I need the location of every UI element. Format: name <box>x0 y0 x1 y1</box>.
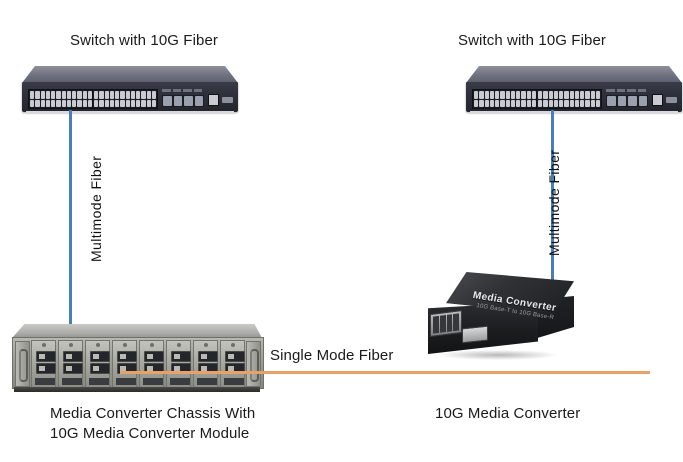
single-mode-fiber-label: Single Mode Fiber <box>266 346 397 365</box>
rj45-port-bank-2 <box>536 89 602 109</box>
right-switch-title: Switch with 10G Fiber <box>458 31 606 50</box>
left-switch-device <box>22 66 238 114</box>
converter-module-slot <box>166 340 191 388</box>
converter-module-slot <box>193 340 218 388</box>
left-switch-title: Switch with 10G Fiber <box>70 31 218 50</box>
single-mode-fiber-link <box>120 371 650 374</box>
chassis-caption-line-2: 10G Media Converter Module <box>50 424 290 444</box>
management-rj45-port <box>652 94 663 106</box>
switch-top-panel <box>22 66 238 83</box>
right-switch-device <box>466 66 682 114</box>
sfp-port-markers <box>606 89 646 92</box>
management-rj45-port <box>208 94 219 106</box>
media-converter-device: Media Converter 10G Base-T to 10G Base-R <box>428 272 576 370</box>
chassis-left-rack-ear <box>15 341 30 387</box>
switch-base-shadow <box>26 111 234 114</box>
rj45-port-bank-2 <box>92 89 158 109</box>
left-multimode-fiber-link <box>69 110 72 346</box>
chassis-caption-line-1: Media Converter Chassis With <box>50 404 290 424</box>
media-converter-chassis <box>12 324 262 392</box>
switch-base-shadow <box>470 111 678 114</box>
converter-module-slot <box>58 340 83 388</box>
sfp-fiber-port-bank <box>162 95 204 107</box>
converter-caption: 10G Media Converter <box>435 404 580 423</box>
rj45-port-bank-1 <box>472 89 538 109</box>
converter-rj45-port <box>462 326 488 344</box>
rj45-port-bank-1 <box>28 89 94 109</box>
chassis-caption: Media Converter Chassis With 10G Media C… <box>50 404 290 444</box>
converter-module-slot <box>139 340 164 388</box>
converter-shadow <box>438 350 558 360</box>
converter-sfp-connector <box>430 310 462 337</box>
converter-module-slot <box>220 340 245 388</box>
chassis-module-slots <box>31 340 245 386</box>
sfp-port-markers <box>162 89 202 92</box>
right-multimode-fiber-label: Multimode Fiber <box>546 150 562 256</box>
usb-console-port <box>666 97 677 103</box>
switch-front-panel <box>22 82 238 112</box>
chassis-right-rack-ear <box>246 341 261 387</box>
switch-front-panel <box>466 82 682 112</box>
sfp-fiber-port-bank <box>606 95 648 107</box>
network-diagram-canvas: Switch with 10G Fiber <box>0 0 683 462</box>
switch-top-panel <box>466 66 682 83</box>
usb-console-port <box>222 97 233 103</box>
converter-module-slot <box>112 340 137 388</box>
converter-module-slot <box>85 340 110 388</box>
converter-module-slot <box>31 340 56 388</box>
chassis-top-panel <box>12 324 262 338</box>
chassis-base <box>14 387 260 392</box>
left-multimode-fiber-label: Multimode Fiber <box>88 156 104 262</box>
